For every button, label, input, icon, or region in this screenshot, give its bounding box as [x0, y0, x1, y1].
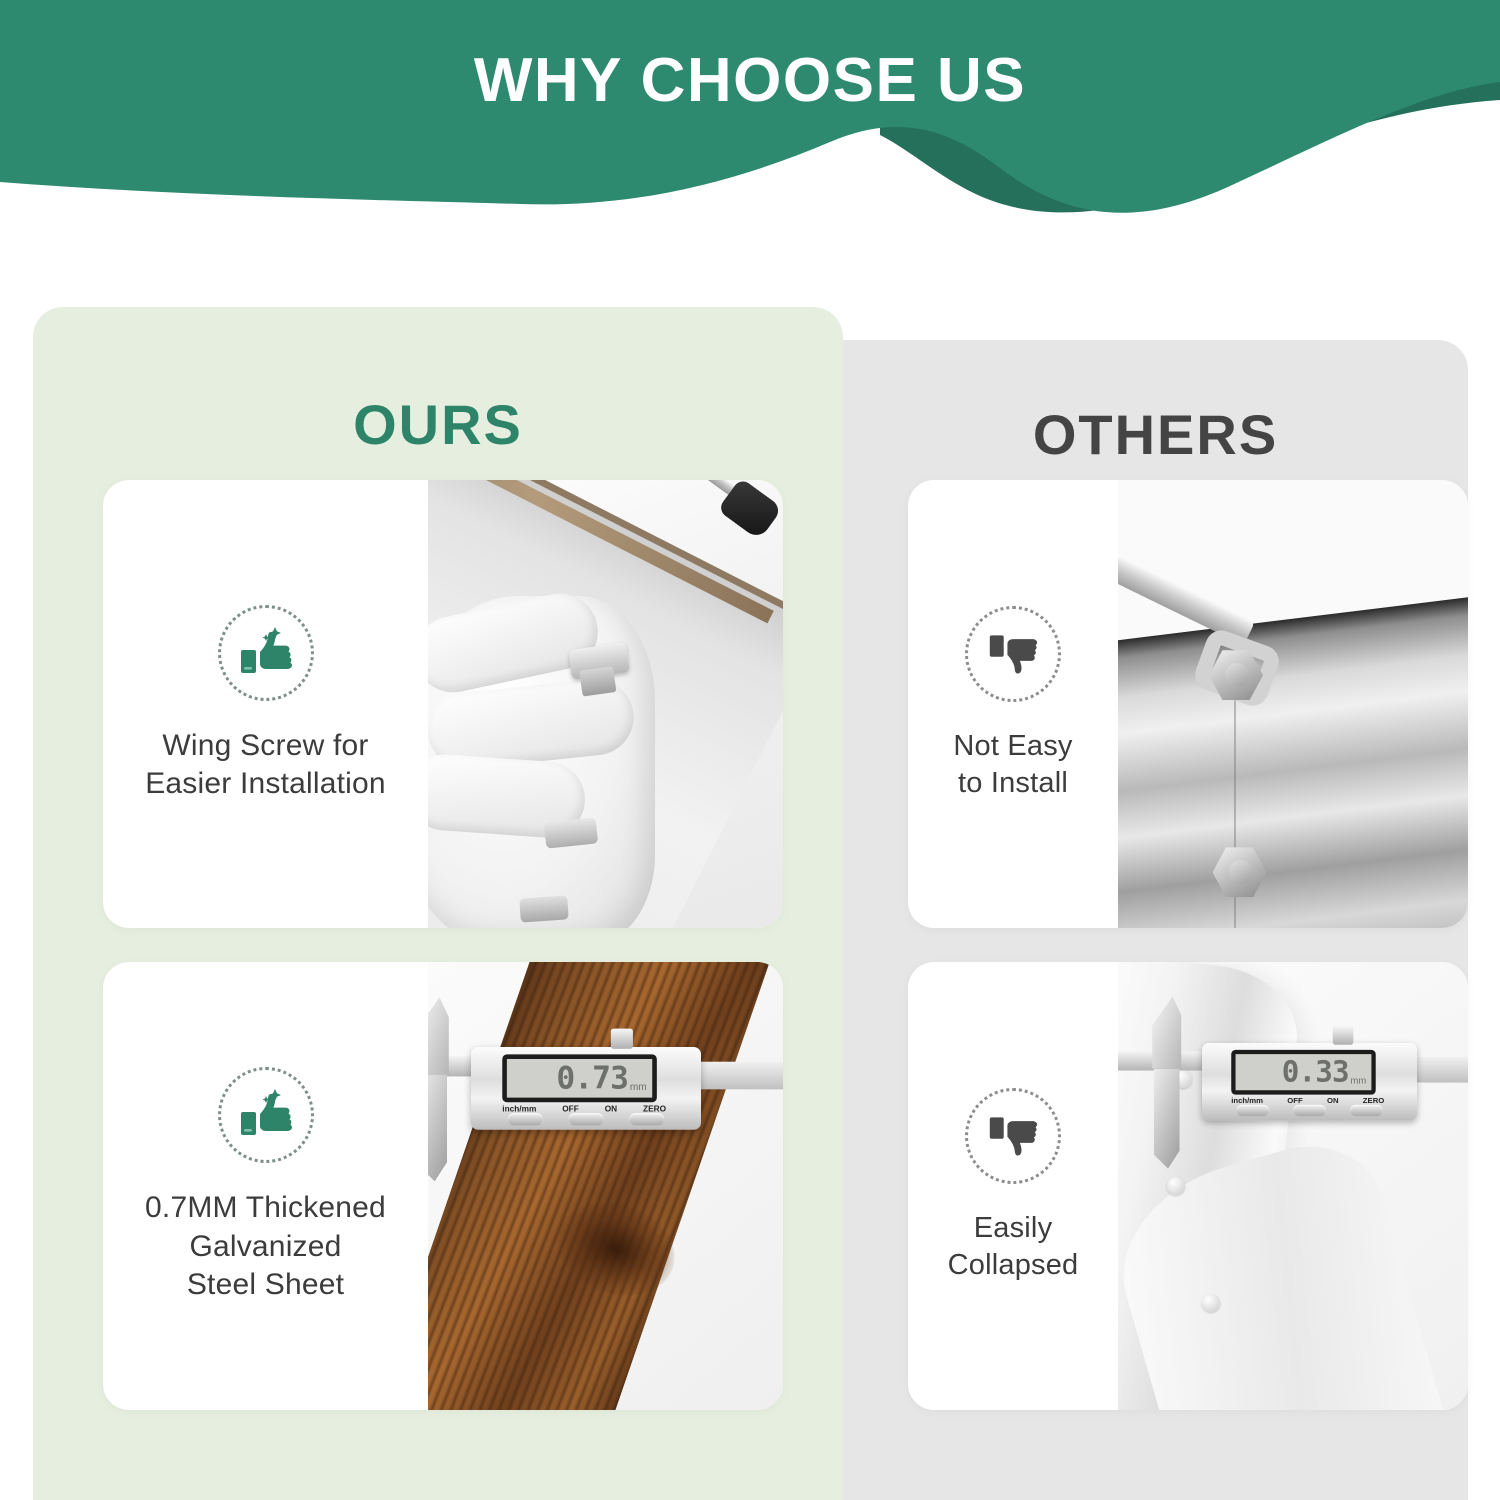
thumbs-down-icon [965, 606, 1061, 702]
panel-heading-others: OTHERS [843, 402, 1468, 467]
card-text-column: Easily Collapsed [908, 962, 1118, 1410]
caliper-btn-label-off: OFF [562, 1104, 579, 1113]
card-text-column: Wing Screw for Easier Installation [103, 480, 428, 928]
feature-card-others-install[interactable]: Not Easy to Install [908, 480, 1468, 928]
caliper-button [629, 1113, 664, 1125]
card-text-column: 0.7MM Thickened Galvanized Steel Sheet [103, 962, 428, 1410]
caliper-button [1350, 1105, 1383, 1116]
page-header: WHY CHOOSE US [0, 0, 1500, 215]
caliper-button [507, 1113, 542, 1125]
caliper-btn-label-on: ON [604, 1104, 616, 1113]
card-label-ours-1: Wing Screw for Easier Installation [145, 727, 386, 804]
caliper-display: 0.73 mm [502, 1054, 657, 1102]
card-photo-caliper-wood: 0.73 mm inch/mm OFF ON ZERO [428, 962, 783, 1410]
caliper-button [1293, 1105, 1326, 1116]
caliper-unit-others: mm [1350, 1075, 1366, 1085]
caliper-button [1236, 1105, 1269, 1116]
feature-card-ours-wing-screw[interactable]: Wing Screw for Easier Installation [103, 480, 783, 928]
thumbs-up-sparkle-icon [218, 605, 314, 701]
caliper-value-ours: 0.73 [556, 1063, 628, 1094]
feature-card-ours-thickness[interactable]: 0.7MM Thickened Galvanized Steel Sheet 0… [103, 962, 783, 1410]
caliper-display: 0.33 mm [1231, 1050, 1375, 1095]
card-label-others-2: Easily Collapsed [948, 1210, 1079, 1284]
card-label-others-1: Not Easy to Install [953, 728, 1072, 802]
thumbs-up-sparkle-icon [218, 1067, 314, 1163]
caliper-btn-label-inchmm: inch/mm [502, 1104, 536, 1113]
caliper-btn-label-off: OFF [1287, 1096, 1302, 1105]
caliper-value-others: 0.33 [1282, 1057, 1349, 1086]
card-label-ours-2: 0.7MM Thickened Galvanized Steel Sheet [145, 1189, 386, 1304]
card-photo-wrench-bolts [1118, 480, 1468, 928]
feature-card-others-collapse[interactable]: Easily Collapsed 0.33 mm [908, 962, 1468, 1410]
caliper-unit-ours: mm [629, 1082, 646, 1093]
card-text-column: Not Easy to Install [908, 480, 1118, 928]
page-title: WHY CHOOSE US [0, 45, 1500, 116]
panel-heading-ours: OURS [33, 392, 843, 457]
caliper-btn-label-inchmm: inch/mm [1231, 1096, 1263, 1105]
card-photo-caliper-white-gutter: 0.33 mm inch/mm OFF ON ZERO [1118, 962, 1468, 1410]
caliper-btn-label-on: ON [1327, 1096, 1339, 1105]
thumbs-down-icon [965, 1088, 1061, 1184]
infographic-page: WHY CHOOSE US OURS OTHERS Wing Screw for… [0, 0, 1500, 1500]
card-photo-wing-screw-install [428, 480, 783, 928]
caliper-btn-label-zero: ZERO [643, 1104, 666, 1113]
caliper-button [568, 1113, 603, 1125]
caliper-btn-label-zero: ZERO [1363, 1096, 1385, 1105]
